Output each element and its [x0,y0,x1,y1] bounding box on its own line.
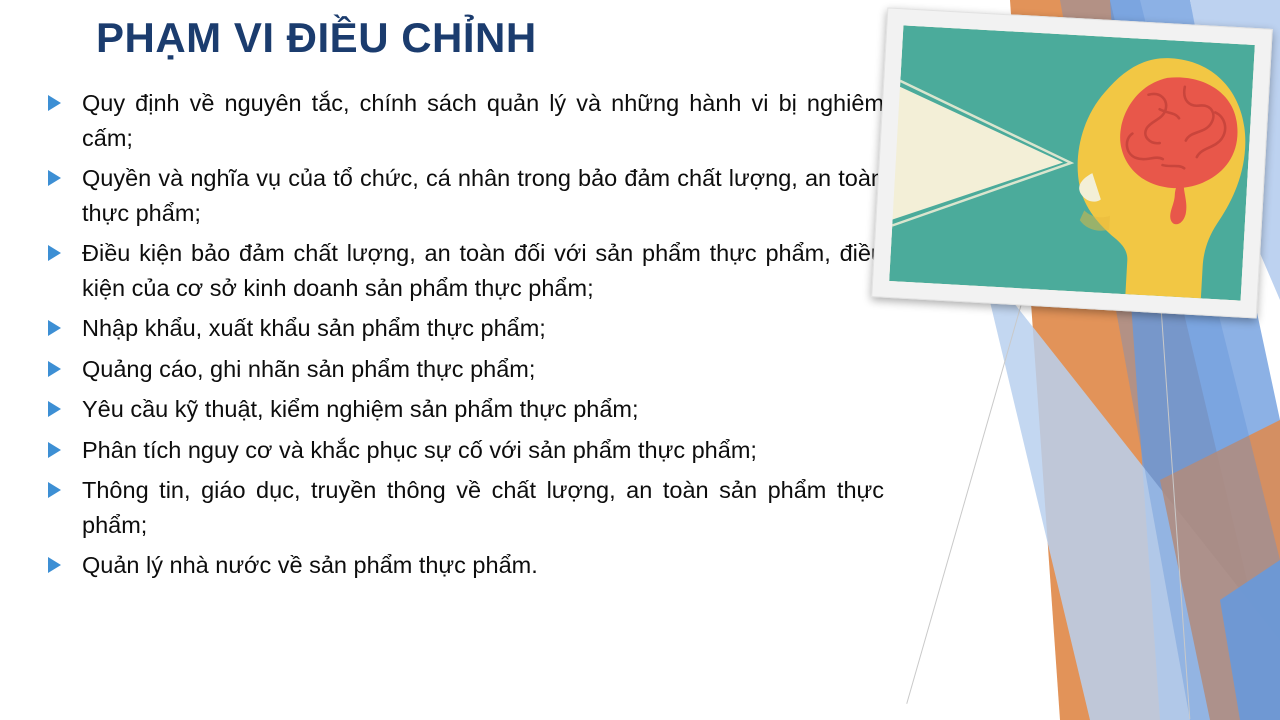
list-item-text: Quảng cáo, ghi nhãn sản phẩm thực phẩm; [82,352,884,387]
list-item-text: Quyền và nghĩa vụ của tổ chức, cá nhân t… [82,161,884,230]
triangle-bullet-icon [48,161,82,186]
list-item: Quy định về nguyên tắc, chính sách quản … [48,86,884,155]
bullet-list: Quy định về nguyên tắc, chính sách quản … [48,86,884,589]
list-item-text: Điều kiện bảo đảm chất lượng, an toàn đố… [82,236,884,305]
slide: PHẠM VI ĐIỀU CHỈNH Quy định về nguyên tắ… [0,0,1280,720]
list-item-text: Quy định về nguyên tắc, chính sách quản … [82,86,884,155]
list-item: Nhập khẩu, xuất khẩu sản phẩm thực phẩm; [48,311,884,346]
triangle-bullet-icon [48,236,82,261]
guide-line-left [906,300,1023,704]
list-item-text: Quản lý nhà nước về sản phẩm thực phẩm. [82,548,884,583]
triangle-bullet-icon [48,311,82,336]
guide-line-right [1160,300,1190,719]
list-item: Quyền và nghĩa vụ của tổ chức, cá nhân t… [48,161,884,230]
triangle-bullet-icon [48,548,82,573]
list-item: Quảng cáo, ghi nhãn sản phẩm thực phẩm; [48,352,884,387]
list-item: Điều kiện bảo đảm chất lượng, an toàn đố… [48,236,884,305]
list-item-text: Nhập khẩu, xuất khẩu sản phẩm thực phẩm; [82,311,884,346]
list-item: Yêu cầu kỹ thuật, kiểm nghiệm sản phẩm t… [48,392,884,427]
page-title: PHẠM VI ĐIỀU CHỈNH [96,14,537,62]
head-with-brain-icon [889,25,1255,300]
image-canvas [889,25,1255,300]
triangle-bullet-icon [48,392,82,417]
list-item: Phân tích nguy cơ và khắc phục sự cố với… [48,433,884,468]
triangle-bullet-icon [48,433,82,458]
triangle-bullet-icon [48,352,82,377]
list-item: Quản lý nhà nước về sản phẩm thực phẩm. [48,548,884,583]
triangle-bullet-icon [48,86,82,111]
framed-image [871,7,1273,318]
list-item-text: Phân tích nguy cơ và khắc phục sự cố với… [82,433,884,468]
list-item-text: Yêu cầu kỹ thuật, kiểm nghiệm sản phẩm t… [82,392,884,427]
list-item-text: Thông tin, giáo dục, truyền thông về chấ… [82,473,884,542]
triangle-bullet-icon [48,473,82,498]
list-item: Thông tin, giáo dục, truyền thông về chấ… [48,473,884,542]
